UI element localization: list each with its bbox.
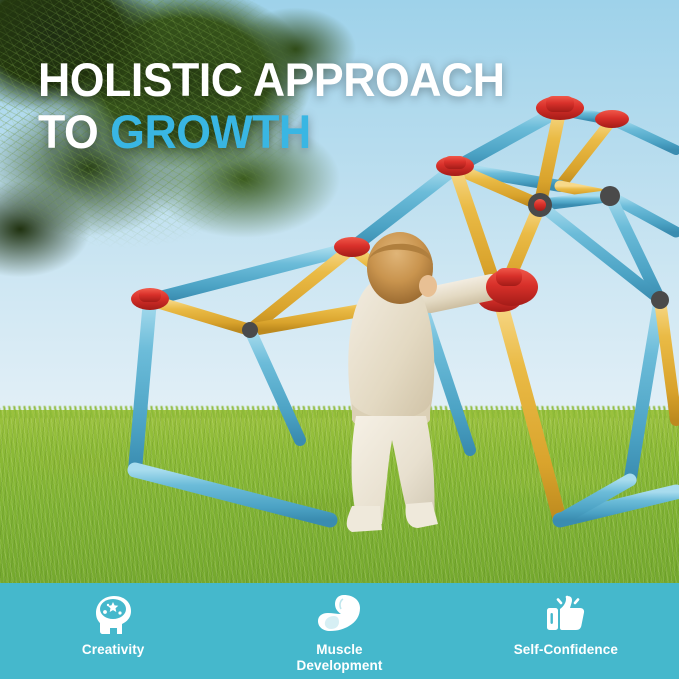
climbing-dome-structure — [0, 0, 679, 583]
head-brain-stars-icon — [93, 593, 133, 637]
feature-muscle-development: MuscleDevelopment — [226, 583, 452, 679]
muscle-label-line-1: Muscle — [316, 642, 362, 657]
feature-bar: Creativity MuscleDevelopment — [0, 583, 679, 679]
product-marketing-image: HOLISTIC APPROACH TO GROWTH Creativity — [0, 0, 679, 679]
feature-self-confidence-label: Self-Confidence — [514, 642, 618, 658]
product-photo-scene: HOLISTIC APPROACH TO GROWTH — [0, 0, 679, 583]
feature-self-confidence: Self-Confidence — [453, 583, 679, 679]
feature-muscle-development-label: MuscleDevelopment — [297, 642, 383, 674]
flexed-bicep-icon — [317, 593, 361, 637]
feature-creativity-label: Creativity — [82, 642, 145, 658]
child-climbing — [347, 232, 510, 532]
thumbs-up-icon — [544, 593, 588, 637]
feature-creativity: Creativity — [0, 583, 226, 679]
muscle-label-line-2: Development — [297, 658, 383, 673]
red-hand-grip — [486, 268, 538, 306]
